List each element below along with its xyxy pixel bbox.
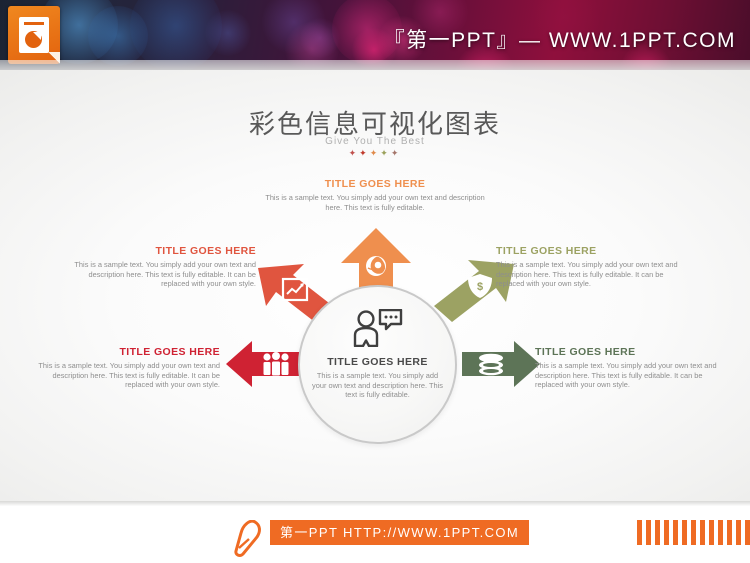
decor-dot-icon: ✦ — [370, 149, 381, 158]
page-subtitle: Give You The Best — [0, 136, 750, 147]
pen-icon — [233, 520, 265, 558]
center-description: This is a sample text. You simply add yo… — [310, 371, 445, 400]
users-group-icon — [263, 352, 288, 376]
center-circle[interactable]: TITLE GOES HERE This is a sample text. Y… — [298, 285, 457, 444]
decor-dot-icon: ✦ — [359, 149, 370, 158]
svg-text:$: $ — [477, 281, 483, 293]
spoke-text-upper-right: TITLE GOES HERE This is a sample text. Y… — [496, 245, 692, 289]
slide-canvas: 『第一PPT』— WWW.1PPT.COM 彩色信息可视化图表 Give You… — [0, 0, 750, 563]
spoke-text-right: TITLE GOES HERE This is a sample text. Y… — [535, 346, 721, 390]
decor-dot-icon: ✦ — [349, 149, 360, 158]
center-title: TITLE GOES HERE — [300, 356, 455, 368]
powerpoint-logo-icon — [8, 6, 60, 64]
bottom-banner: 第一PPT HTTP://WWW.1PPT.COM — [0, 501, 750, 563]
top-banner: 『第一PPT』— WWW.1PPT.COM — [0, 0, 750, 70]
spoke-text-upper-left: TITLE GOES HERE This is a sample text. Y… — [62, 245, 256, 289]
globe-icon — [366, 256, 386, 276]
spoke-arrow-left[interactable] — [226, 341, 304, 387]
decor-dot-icon: ✦ — [391, 149, 402, 158]
person-speech-bubble-icon — [353, 309, 403, 347]
bottom-banner-divider — [0, 501, 750, 506]
spoke-text-left: TITLE GOES HERE This is a sample text. Y… — [34, 346, 220, 390]
spoke-text-top: TITLE GOES HERE This is a sample text. Y… — [258, 178, 492, 212]
coins-stack-icon — [479, 354, 503, 376]
coins-arrow-shape — [462, 341, 540, 387]
bottom-banner-stripes — [637, 520, 750, 545]
spoke-arrow-right[interactable] — [462, 341, 540, 387]
decor-dot-row: ✦✦✦✦✦ — [0, 149, 750, 158]
users-arrow-shape — [226, 341, 304, 387]
top-banner-brand: 『第一PPT』— WWW.1PPT.COM — [384, 24, 736, 54]
bottom-banner-label: 第一PPT HTTP://WWW.1PPT.COM — [270, 520, 529, 545]
top-banner-edge — [0, 60, 750, 70]
decor-dot-icon: ✦ — [380, 149, 391, 158]
